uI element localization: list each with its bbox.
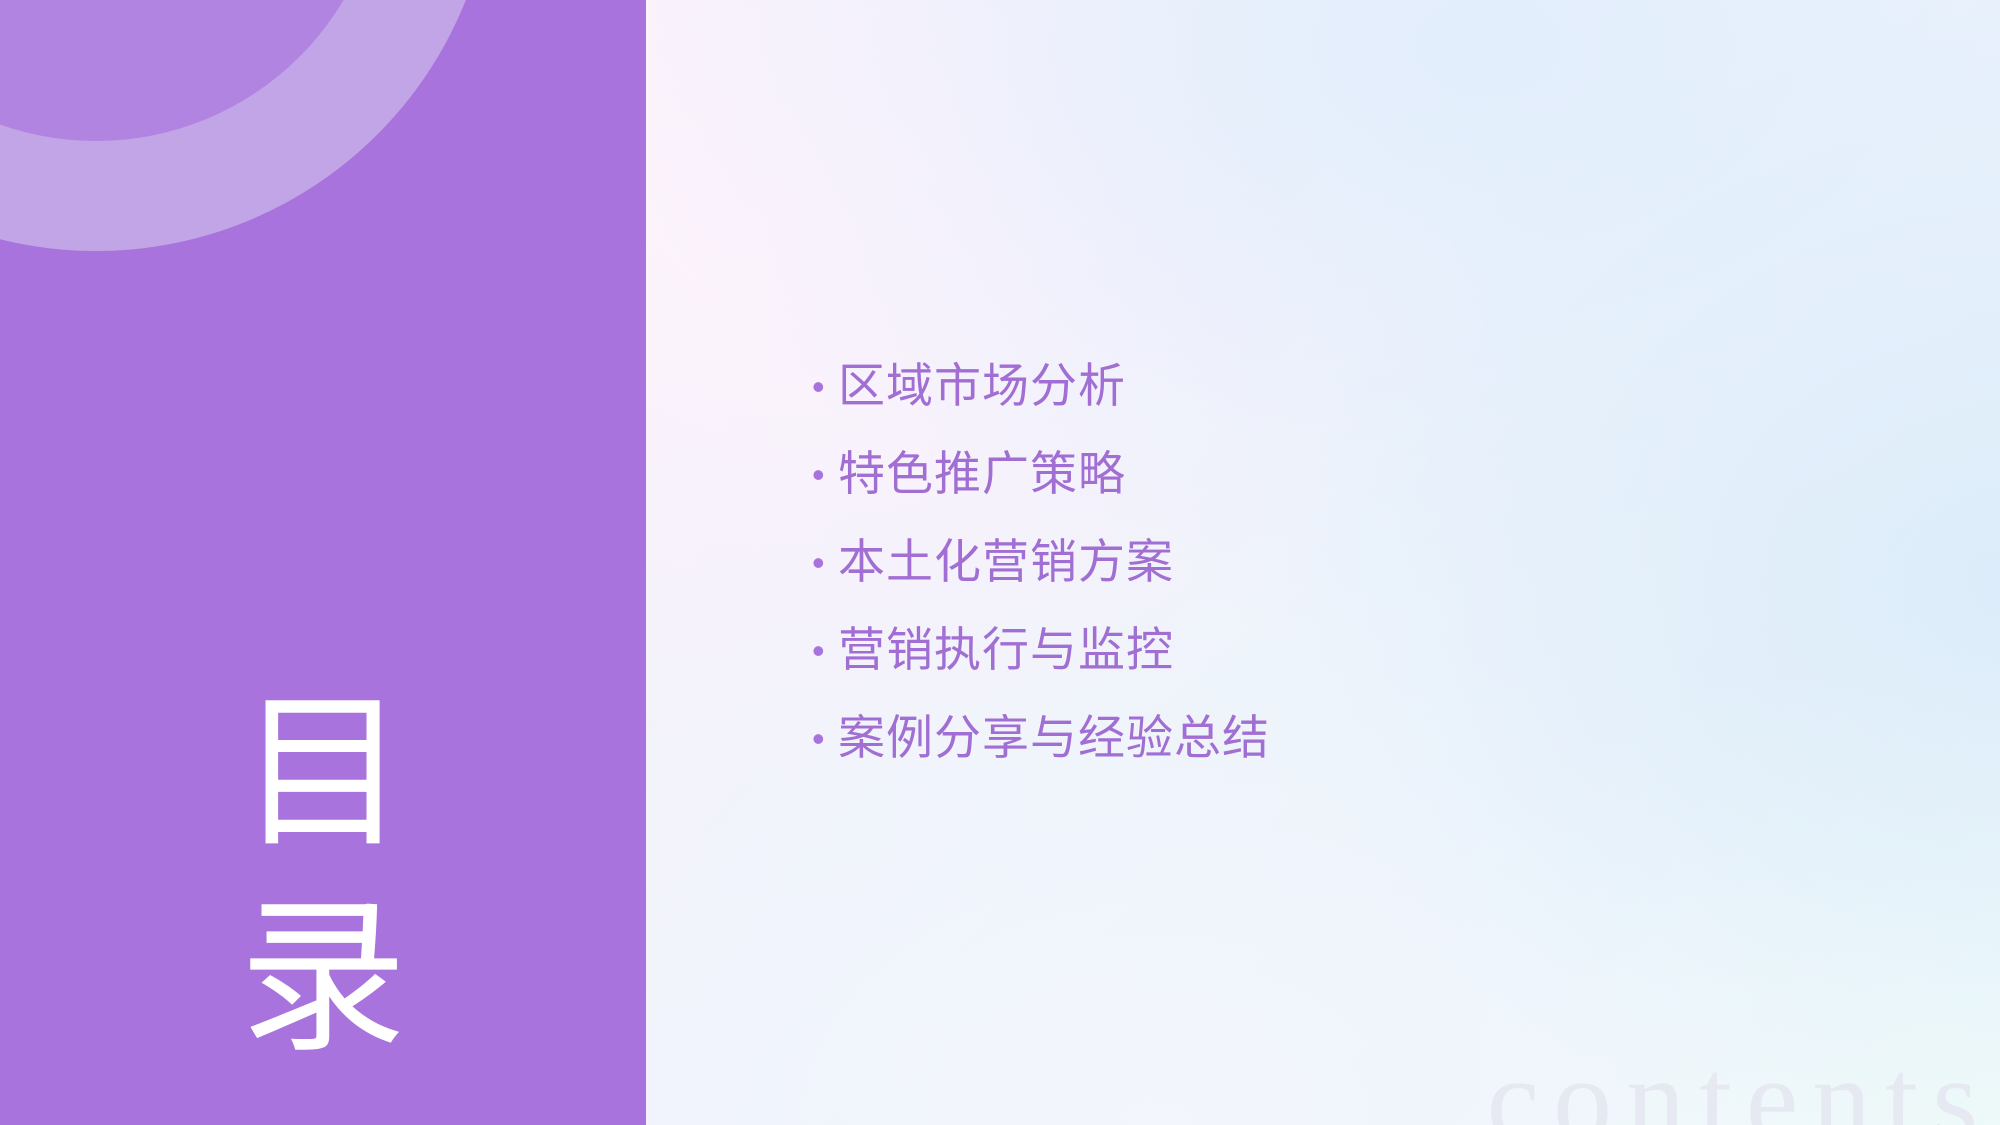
bullet-icon: • bbox=[812, 616, 838, 686]
slide-canvas: 目 录 • 区域市场分析 • 特色推广策略 • 本土化营销方案 • 营销执行与监… bbox=[0, 0, 2000, 1125]
list-item[interactable]: • 区域市场分析 bbox=[812, 352, 1712, 422]
list-item[interactable]: • 特色推广策略 bbox=[812, 440, 1712, 510]
decorative-ring-inner-icon bbox=[0, 0, 494, 251]
contents-watermark: contents bbox=[1487, 1041, 1992, 1125]
toc-list: • 区域市场分析 • 特色推广策略 • 本土化营销方案 • 营销执行与监控 • … bbox=[812, 352, 1712, 774]
toc-item-label: 营销执行与监控 bbox=[838, 616, 1174, 686]
bullet-icon: • bbox=[812, 528, 838, 598]
toc-item-label: 案例分享与经验总结 bbox=[838, 704, 1270, 774]
bullet-icon: • bbox=[812, 352, 838, 422]
list-item[interactable]: • 案例分享与经验总结 bbox=[812, 704, 1712, 774]
toc-item-label: 区域市场分析 bbox=[838, 352, 1126, 422]
list-item[interactable]: • 本土化营销方案 bbox=[812, 528, 1712, 598]
bullet-icon: • bbox=[812, 704, 838, 774]
toc-item-label: 本土化营销方案 bbox=[838, 528, 1174, 598]
bullet-icon: • bbox=[812, 440, 838, 510]
toc-item-label: 特色推广策略 bbox=[838, 440, 1126, 510]
left-purple-panel bbox=[0, 0, 646, 1125]
list-item[interactable]: • 营销执行与监控 bbox=[812, 616, 1712, 686]
